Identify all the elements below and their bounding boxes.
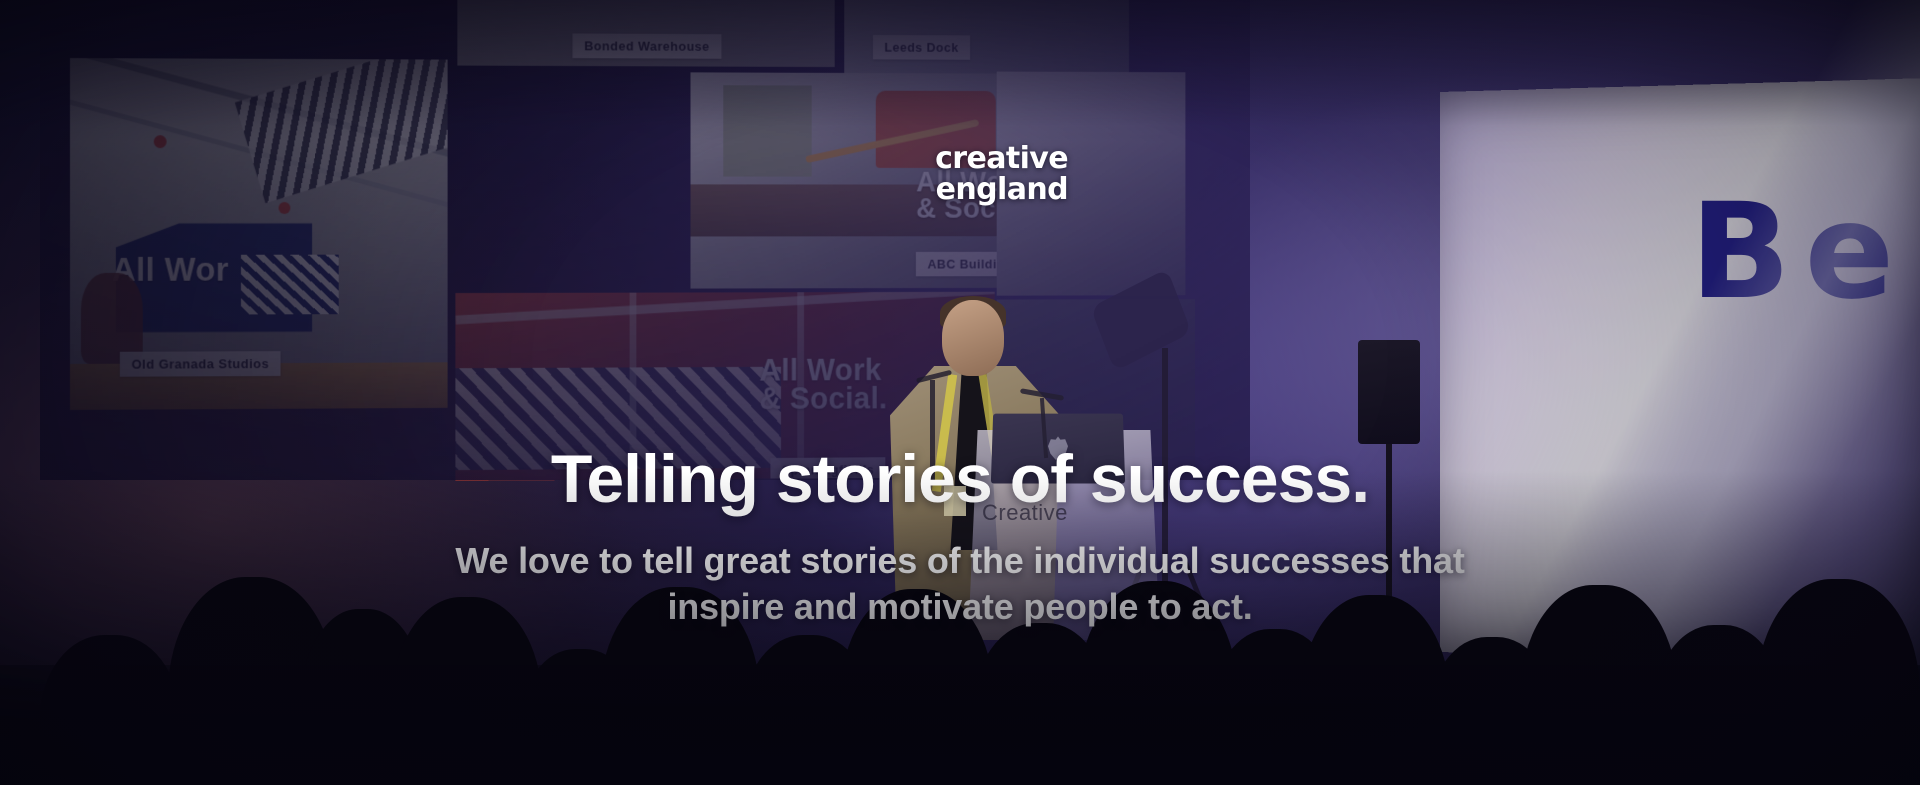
caption-leeds-dock: Leeds Dock (873, 35, 970, 60)
wall-panel (723, 85, 812, 176)
logo-line-england: england (820, 174, 1068, 205)
logo-line-creative: creative (820, 143, 1068, 174)
wordmark-line-2: & Social. (759, 381, 887, 416)
all-work-social-wordmark: All Work & Social. (759, 355, 887, 413)
creative-england-logo: creative england (820, 143, 1068, 205)
projection-tile-leeds-dock: OC Leeds Dock (844, 0, 1129, 74)
caption-bonded-warehouse: Bonded Warehouse (573, 33, 722, 58)
backdrop-be-lettering: Be (1690, 186, 1908, 318)
hero-banner: Bonded Warehouse OC Leeds Dock All Wor O… (0, 0, 1920, 785)
striped-banner (241, 255, 339, 315)
pa-speaker-box (1358, 340, 1420, 444)
projection-tile-bonded-warehouse: Bonded Warehouse (457, 0, 834, 67)
audience-foreground (0, 665, 1920, 785)
presenter-head (942, 300, 1004, 376)
audience-silhouettes (0, 455, 1920, 785)
projection-tile-old-granada-studios: All Wor Old Granada Studios (70, 58, 448, 410)
support-pole (630, 293, 637, 480)
caption-old-granada-studios: Old Granada Studios (120, 351, 281, 377)
